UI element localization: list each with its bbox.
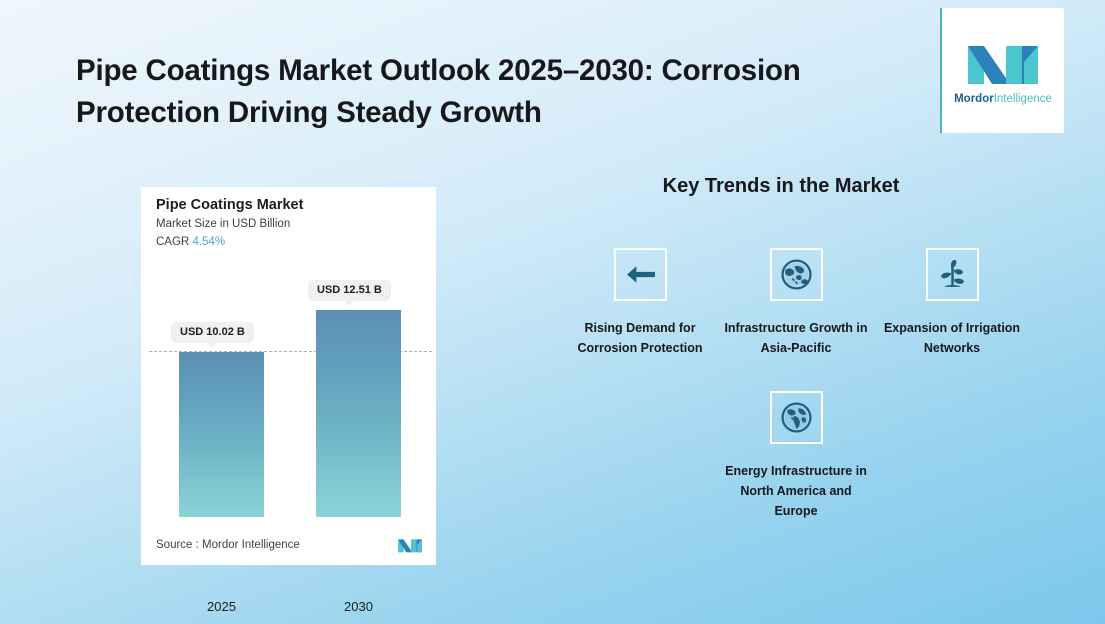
bar-chart-plot-area: USD 10.02 B USD 12.51 B 2025 2030 bbox=[141, 265, 436, 517]
mordor-m-mark-icon bbox=[397, 536, 423, 553]
data-label-2030: USD 12.51 B bbox=[308, 280, 391, 301]
trend-item-asia-pacific: Infrastructure Growth in Asia-Pacific bbox=[718, 248, 874, 358]
trends-grid: Rising Demand for Corrosion Protection I… bbox=[562, 248, 1030, 521]
page-title: Pipe Coatings Market Outlook 2025–2030: … bbox=[76, 50, 926, 133]
trend-item-rising-demand: Rising Demand for Corrosion Protection bbox=[562, 248, 718, 358]
chart-source-row: Source : Mordor Intelligence bbox=[156, 536, 423, 553]
x-axis-label-2025: 2025 bbox=[179, 599, 264, 614]
brand-word-intelligence: Intelligence bbox=[994, 93, 1052, 105]
x-axis-label-2030: 2030 bbox=[316, 599, 401, 614]
globe-asia-pacific-icon bbox=[770, 248, 823, 301]
data-label-2025: USD 10.02 B bbox=[171, 322, 254, 343]
trend-item-irrigation: Expansion of Irrigation Networks bbox=[874, 248, 1030, 358]
arrow-left-icon bbox=[614, 248, 667, 301]
cagr-value: 4.54% bbox=[192, 236, 225, 248]
globe-americas-icon bbox=[770, 391, 823, 444]
market-size-chart-card: Pipe Coatings Market Market Size in USD … bbox=[141, 187, 436, 565]
brand-word-mordor: Mordor bbox=[954, 93, 994, 105]
brand-wordmark: MordorIntelligence bbox=[954, 93, 1052, 105]
chart-subtitle: Market Size in USD Billion bbox=[156, 218, 290, 230]
source-text: Source : Mordor Intelligence bbox=[156, 539, 300, 551]
chart-title: Pipe Coatings Market bbox=[156, 197, 303, 213]
bar-2030 bbox=[316, 310, 401, 517]
trends-section-title: Key Trends in the Market bbox=[626, 175, 936, 198]
bar-2025 bbox=[179, 352, 264, 517]
trend-label: Expansion of Irrigation Networks bbox=[874, 319, 1030, 358]
trend-item-energy-infrastructure: Energy Infrastructure in North America a… bbox=[718, 391, 874, 521]
mordor-m-logo-icon bbox=[966, 36, 1040, 86]
trend-label: Infrastructure Growth in Asia-Pacific bbox=[718, 319, 874, 358]
trend-label: Energy Infrastructure in North America a… bbox=[718, 462, 874, 521]
chart-cagr: CAGR 4.54% bbox=[156, 236, 225, 248]
trend-label: Rising Demand for Corrosion Protection bbox=[562, 319, 718, 358]
plant-sprout-icon bbox=[926, 248, 979, 301]
brand-logo-card: MordorIntelligence bbox=[940, 8, 1064, 133]
cagr-label: CAGR bbox=[156, 236, 189, 248]
